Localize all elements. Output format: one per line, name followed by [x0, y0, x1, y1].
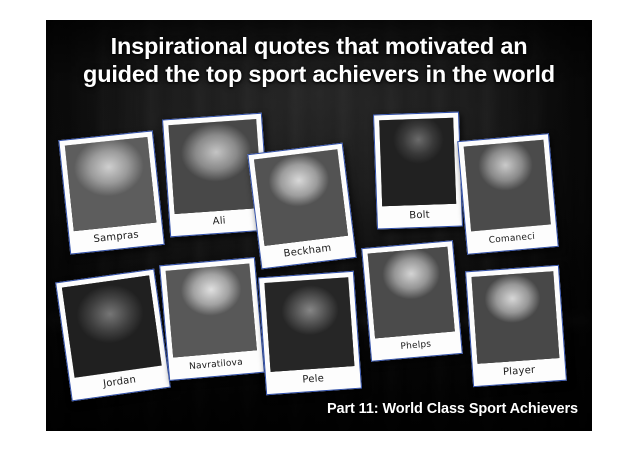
- slide-footer: Part 11: World Class Sport Achievers: [327, 401, 578, 417]
- photo-image-jordan: [62, 275, 162, 377]
- photo-card-pele[interactable]: Pele: [258, 271, 362, 395]
- photo-image-player: [471, 271, 559, 364]
- photo-image-phelps: [368, 247, 455, 339]
- photo-image-navratilova: [166, 264, 257, 358]
- photo-card-jordan[interactable]: Jordan: [55, 269, 171, 402]
- photo-image-comaneci: [464, 140, 551, 232]
- photo-image-sampras: [65, 137, 157, 231]
- photo-image-bolt: [379, 118, 456, 207]
- photo-card-navratilova[interactable]: Navratilova: [159, 257, 265, 381]
- photo-card-player[interactable]: Player: [465, 265, 567, 387]
- photo-card-bolt[interactable]: Bolt: [373, 112, 463, 230]
- photo-card-phelps[interactable]: Phelps: [361, 240, 463, 362]
- photo-caption-bolt: Bolt: [382, 204, 457, 229]
- presentation-slide: Inspirational quotes that motivated an g…: [46, 20, 592, 431]
- photo-card-sampras[interactable]: Sampras: [58, 130, 165, 254]
- photo-card-comaneci[interactable]: Comaneci: [457, 133, 559, 255]
- photo-card-beckham[interactable]: Beckham: [247, 143, 356, 270]
- slide-title-line-2: guided the top sport achievers in the wo…: [46, 60, 592, 88]
- photo-image-beckham: [254, 149, 348, 246]
- slide-title: Inspirational quotes that motivated an g…: [46, 32, 592, 88]
- slide-title-line-1: Inspirational quotes that motivated an: [46, 32, 592, 60]
- photo-image-pele: [264, 277, 354, 372]
